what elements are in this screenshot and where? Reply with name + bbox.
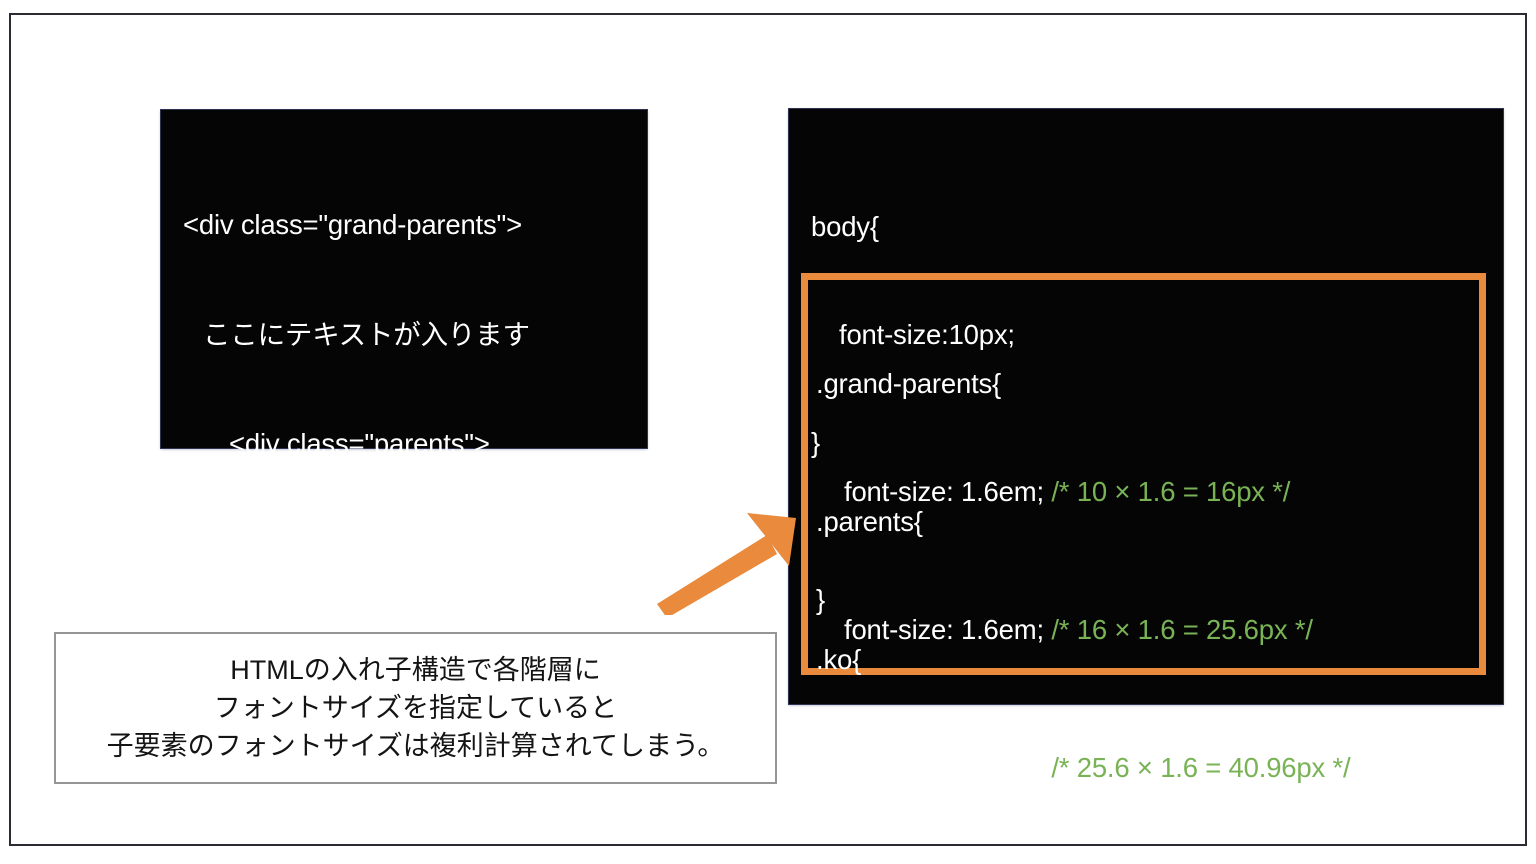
css-selector: body{: [811, 209, 1015, 245]
arrow-up-right-icon: [641, 500, 811, 615]
css-comment: /* 25.6 × 1.6 = 40.96px */: [1051, 752, 1350, 783]
caption-line: 子要素のフォントサイズは複利計算されてしまう。: [107, 727, 725, 765]
html-code-panel: <div class="grand-parents"> ここにテキストが入ります…: [161, 110, 647, 448]
html-code-line: <div class="parents">: [183, 426, 641, 463]
css-selector: .grand-parents{: [816, 366, 1290, 402]
html-code-line: ここにテキストが入ります: [183, 536, 641, 573]
caption-line: フォントサイズを指定していると: [214, 689, 617, 727]
html-code-line: <div class="grand-parents">: [183, 207, 641, 244]
caption-box: HTMLの入れ子構造で各階層に フォントサイズを指定していると 子要素のフォント…: [54, 632, 777, 784]
highlight-box-em-rules: .grand-parents{ font-size: 1.6em; /* 10 …: [801, 273, 1486, 675]
css-rule-ko: .ko{ font-size: 1.6em; /* 25.6 × 1.6 = 4…: [816, 570, 1350, 864]
caption-line: HTMLの入れ子構造で各階層に: [230, 651, 601, 689]
css-brace-close: }: [816, 858, 1350, 864]
css-declaration: font-size: 1.6em;: [844, 752, 1044, 783]
css-selector: .parents{: [816, 504, 1313, 540]
html-code-line: ここにテキストが入ります: [183, 317, 641, 354]
slide-frame-border: <div class="grand-parents"> ここにテキストが入ります…: [9, 13, 1527, 846]
css-code-panel: body{ font-size:10px; } .grand-parents{ …: [789, 109, 1503, 704]
slide-canvas: <div class="grand-parents"> ここにテキストが入ります…: [0, 0, 1536, 864]
css-selector: .ko{: [816, 642, 1350, 678]
css-declaration-line: font-size: 1.6em; /* 25.6 × 1.6 = 40.96p…: [816, 750, 1350, 786]
